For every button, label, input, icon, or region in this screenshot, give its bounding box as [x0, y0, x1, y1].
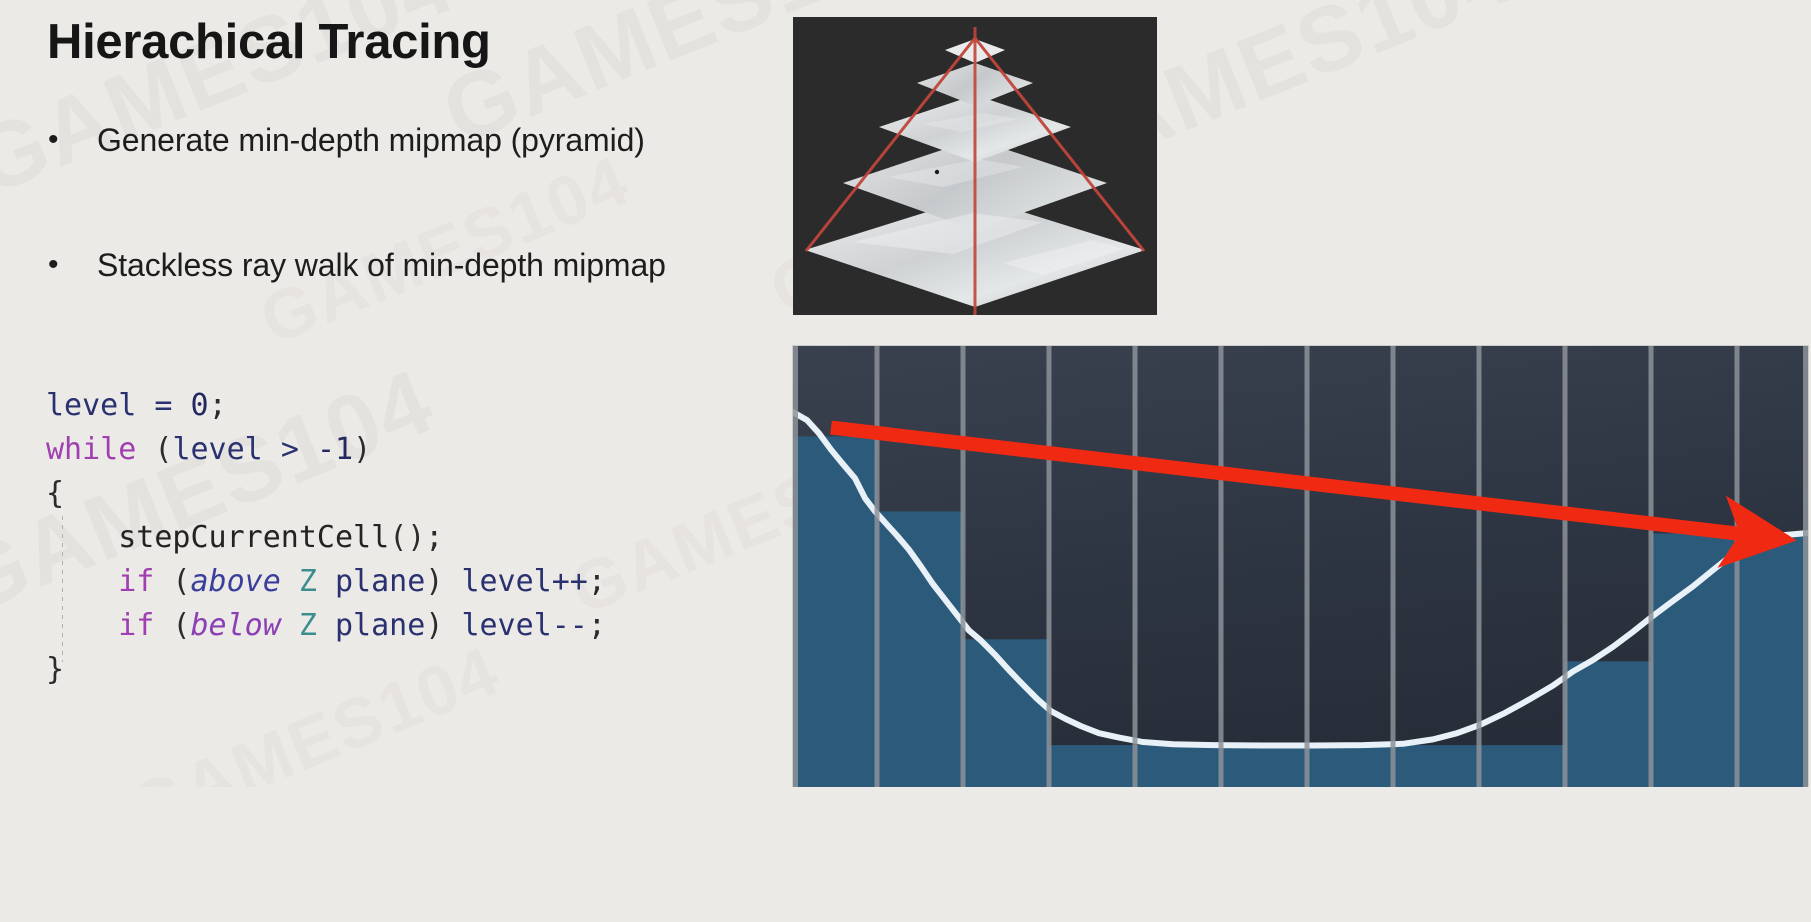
code-token: level	[172, 432, 262, 467]
cell-separator	[1305, 346, 1310, 787]
cell-separator	[1649, 346, 1654, 787]
min-depth-cell	[1393, 745, 1479, 787]
code-token: >	[281, 432, 299, 467]
code-token: =	[154, 388, 172, 423]
code-token: while	[46, 432, 136, 467]
cell-separator	[1735, 346, 1740, 787]
code-token	[281, 608, 299, 643]
code-token	[317, 608, 335, 643]
pyramid-svg	[793, 17, 1157, 315]
min-depth-cell	[1565, 661, 1651, 787]
code-token: level	[46, 388, 136, 423]
code-token: )	[425, 608, 461, 643]
cell-separator	[961, 346, 966, 787]
min-depth-cell	[963, 639, 1049, 787]
bullet-label: Generate min-depth mipmap (pyramid)	[82, 118, 645, 162]
code-token: plane	[335, 564, 425, 599]
code-token: ;	[588, 564, 606, 599]
code-token: level	[461, 564, 551, 599]
code-token: level	[461, 608, 551, 643]
cell-separator	[1803, 346, 1808, 787]
code-token: (	[154, 608, 190, 643]
left-content-column: Hierachical Tracing • Generate min-depth…	[0, 0, 790, 922]
code-token: ;	[209, 388, 227, 423]
min-depth-cell	[1307, 745, 1393, 787]
min-depth-cell	[793, 436, 877, 787]
code-line: if (above Z plane) level++;	[46, 560, 606, 604]
depth-ray-walk-figure	[793, 346, 1808, 787]
slide-bottom-strip	[0, 787, 1811, 922]
min-depth-cell	[1135, 745, 1221, 787]
code-token: stepCurrentCell	[118, 520, 389, 555]
code-token	[281, 564, 299, 599]
code-token: below	[191, 608, 281, 643]
code-line: }	[46, 648, 606, 692]
code-token: -1	[317, 432, 353, 467]
code-token: {	[46, 476, 64, 511]
code-line: {	[46, 472, 606, 516]
code-line: if (below Z plane) level--;	[46, 604, 606, 648]
cell-separator	[1047, 346, 1052, 787]
code-token: (	[154, 564, 190, 599]
code-token: above	[191, 564, 281, 599]
code-token: if	[118, 564, 154, 599]
slide-root: GAMES104 GAMES104 GAMES104 GAMES104 GAME…	[0, 0, 1811, 922]
bullet-label: Stackless ray walk of min-depth mipmap	[82, 243, 666, 287]
mipmap-pyramid-figure	[793, 17, 1157, 315]
cell-separator	[1563, 346, 1568, 787]
code-token: )	[353, 432, 371, 467]
min-depth-cell	[877, 511, 963, 787]
cell-separator	[875, 346, 880, 787]
code-snippet: level = 0;while (level > -1){ stepCurren…	[46, 384, 606, 692]
code-token: )	[425, 564, 461, 599]
code-token: ();	[389, 520, 443, 555]
code-token	[172, 388, 190, 423]
code-line: while (level > -1)	[46, 428, 606, 472]
code-token: ;	[588, 608, 606, 643]
code-token	[46, 564, 118, 599]
min-depth-cell	[1479, 745, 1565, 787]
code-line: stepCurrentCell();	[46, 516, 606, 560]
code-token: --	[552, 608, 588, 643]
bullet-marker-icon: •	[44, 243, 82, 287]
page-title: Hierachical Tracing	[47, 14, 491, 70]
cell-separator	[1391, 346, 1396, 787]
code-token: (	[136, 432, 172, 467]
code-token: }	[46, 652, 64, 687]
code-token: plane	[335, 608, 425, 643]
cell-separator	[1477, 346, 1482, 787]
surface-marker-dot	[935, 170, 939, 174]
min-depth-cell	[1221, 745, 1307, 787]
code-line: level = 0;	[46, 384, 606, 428]
code-token: if	[118, 608, 154, 643]
code-token: ++	[552, 564, 588, 599]
code-token: Z	[299, 564, 317, 599]
bullet-item: • Generate min-depth mipmap (pyramid)	[44, 118, 645, 162]
code-token: 0	[191, 388, 209, 423]
min-depth-cell	[1049, 745, 1135, 787]
code-token	[263, 432, 281, 467]
cell-separator	[1219, 346, 1224, 787]
cell-separator	[793, 346, 798, 787]
code-token	[299, 432, 317, 467]
cell-separator	[1133, 346, 1138, 787]
code-token: Z	[299, 608, 317, 643]
min-depth-cell	[1737, 533, 1808, 787]
code-token	[136, 388, 154, 423]
code-token	[317, 564, 335, 599]
code-token	[46, 608, 118, 643]
code-token	[46, 520, 118, 555]
bullet-item: • Stackless ray walk of min-depth mipmap	[44, 243, 666, 287]
bullet-marker-icon: •	[44, 118, 82, 162]
depth-chart-svg	[793, 346, 1808, 787]
min-depth-cell	[1651, 533, 1737, 787]
